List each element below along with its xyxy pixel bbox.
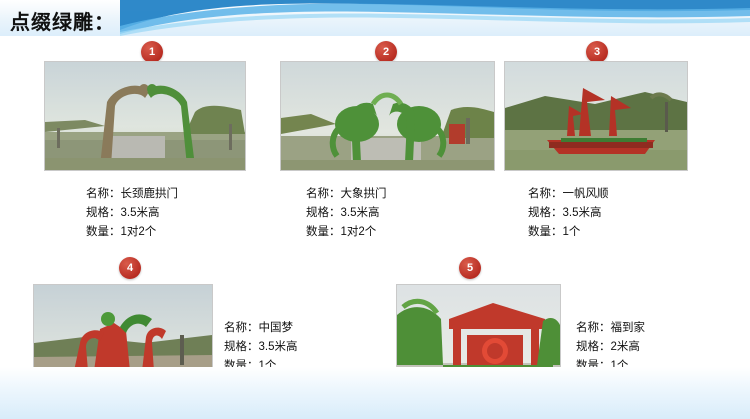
header-swoosh-decoration [120, 0, 750, 36]
value-qty-3: 1个 [563, 226, 581, 238]
value-qty-2: 1对2个 [341, 226, 377, 238]
value-spec-5: 2米高 [611, 341, 640, 353]
photo-giraffe-arch [44, 61, 246, 171]
label-spec-2: 规格： [306, 207, 341, 219]
page-title: 点缀绿雕： [10, 6, 115, 35]
label-spec-5: 规格： [576, 341, 611, 353]
label-qty-1: 数量： [86, 226, 121, 238]
value-spec-1: 3.5米高 [121, 207, 160, 219]
caption-item-2: 名称：大象拱门 规格：3.5米高 数量：1对2个 [306, 185, 387, 242]
badge-1: 1 [141, 41, 163, 63]
value-name-3: 一帆风顺 [563, 188, 609, 200]
label-name-3: 名称： [528, 188, 563, 200]
badge-4: 4 [119, 257, 141, 279]
value-name-4: 中国梦 [259, 322, 294, 334]
slide: 点缀绿雕： 1 [0, 0, 750, 419]
label-name-2: 名称： [306, 188, 341, 200]
label-spec-1: 规格： [86, 207, 121, 219]
label-qty-2: 数量： [306, 226, 341, 238]
photo-sailing-ship [504, 61, 688, 171]
label-name-5: 名称： [576, 322, 611, 334]
caption-item-1: 名称：长颈鹿拱门 规格：3.5米高 数量：1对2个 [86, 185, 178, 242]
badge-3: 3 [586, 41, 608, 63]
label-name-4: 名称： [224, 322, 259, 334]
label-qty-3: 数量： [528, 226, 563, 238]
photo-elephant-arch [280, 61, 495, 171]
value-name-5: 福到家 [611, 322, 646, 334]
value-name-1: 长颈鹿拱门 [121, 188, 179, 200]
caption-item-3: 名称：一帆风顺 规格：3.5米高 数量：1个 [528, 185, 609, 242]
value-spec-4: 3.5米高 [259, 341, 298, 353]
label-spec-4: 规格： [224, 341, 259, 353]
value-qty-1: 1对2个 [121, 226, 157, 238]
value-spec-2: 3.5米高 [341, 207, 380, 219]
label-name-1: 名称： [86, 188, 121, 200]
badge-2: 2 [375, 41, 397, 63]
value-name-2: 大象拱门 [341, 188, 387, 200]
badge-5: 5 [459, 257, 481, 279]
label-spec-3: 规格： [528, 207, 563, 219]
value-spec-3: 3.5米高 [563, 207, 602, 219]
bottom-band [0, 367, 750, 419]
